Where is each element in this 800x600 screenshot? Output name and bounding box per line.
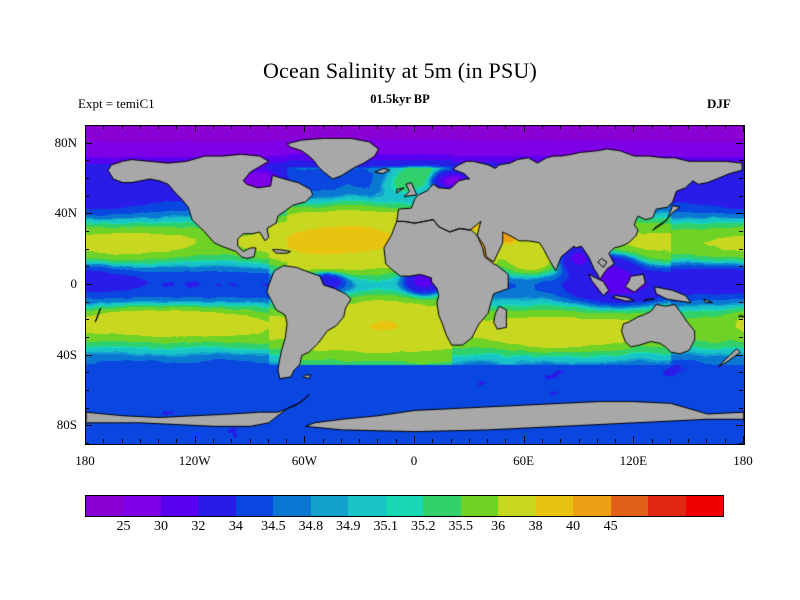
colorbar: [85, 495, 724, 517]
x-axis-minor-tick: [268, 439, 269, 443]
x-axis-minor-tick: [725, 125, 726, 129]
x-axis-minor-tick: [158, 439, 159, 443]
y-axis-minor-tick: [739, 196, 743, 197]
x-axis-major-tick: [524, 125, 525, 132]
y-axis-minor-tick: [739, 337, 743, 338]
x-axis-major-tick: [743, 436, 744, 443]
colorbar-tick-label: 34: [229, 519, 243, 535]
x-axis-minor-tick: [158, 125, 159, 129]
y-axis-minor-tick: [85, 178, 89, 179]
x-axis-minor-tick: [103, 439, 104, 443]
x-axis-minor-tick: [505, 439, 506, 443]
colorbar-band: [573, 496, 610, 516]
x-axis-minor-tick: [341, 439, 342, 443]
x-axis-minor-tick: [377, 125, 378, 129]
y-axis-major-tick: [85, 284, 92, 285]
colorbar-band: [348, 496, 385, 516]
y-axis-major-tick: [85, 213, 92, 214]
x-axis-minor-tick: [505, 125, 506, 129]
x-axis-minor-tick: [706, 439, 707, 443]
x-axis-minor-tick: [231, 439, 232, 443]
y-axis-minor-tick: [85, 160, 89, 161]
x-axis-minor-tick: [323, 439, 324, 443]
x-axis-minor-tick: [560, 439, 561, 443]
y-axis-tick-label: 0: [33, 276, 77, 292]
x-axis-minor-tick: [560, 125, 561, 129]
season-label: DJF: [707, 96, 731, 112]
x-axis-minor-tick: [359, 439, 360, 443]
salinity-heatmap-canvas: [86, 126, 744, 444]
colorbar-tick-label: 34.8: [299, 519, 324, 535]
x-axis-tick-label: 120E: [620, 453, 647, 469]
x-axis-minor-tick: [542, 439, 543, 443]
x-axis-minor-tick: [377, 439, 378, 443]
x-axis-minor-tick: [469, 439, 470, 443]
colorbar-band: [536, 496, 573, 516]
y-axis-minor-tick: [739, 408, 743, 409]
x-axis-tick-label: 120W: [179, 453, 211, 469]
x-axis-minor-tick: [341, 125, 342, 129]
x-axis-minor-tick: [469, 125, 470, 129]
x-axis-minor-tick: [688, 125, 689, 129]
y-axis-minor-tick: [85, 302, 89, 303]
colorbar-tick-label: 40: [566, 519, 580, 535]
x-axis-minor-tick: [122, 439, 123, 443]
y-axis-minor-tick: [739, 231, 743, 232]
x-axis-tick-label: 180: [733, 453, 753, 469]
x-axis-major-tick: [633, 125, 634, 132]
colorbar-band: [611, 496, 648, 516]
x-axis-minor-tick: [451, 439, 452, 443]
colorbar-tick-label: 36: [491, 519, 505, 535]
x-axis-tick-label: 60E: [513, 453, 534, 469]
x-axis-minor-tick: [542, 125, 543, 129]
x-axis-minor-tick: [122, 125, 123, 129]
x-axis-minor-tick: [176, 439, 177, 443]
y-axis-major-tick: [736, 284, 743, 285]
colorbar-band: [686, 496, 723, 516]
colorbar-band: [648, 496, 685, 516]
x-axis-minor-tick: [250, 439, 251, 443]
x-axis-minor-tick: [286, 439, 287, 443]
x-axis-minor-tick: [451, 125, 452, 129]
x-axis-minor-tick: [359, 125, 360, 129]
x-axis-major-tick: [85, 436, 86, 443]
x-axis-minor-tick: [670, 125, 671, 129]
y-axis-minor-tick: [85, 337, 89, 338]
colorbar-band: [273, 496, 310, 516]
colorbar-band: [498, 496, 535, 516]
colorbar-tick-label: 32: [191, 519, 205, 535]
y-axis-minor-tick: [739, 390, 743, 391]
y-axis-minor-tick: [739, 178, 743, 179]
x-axis-major-tick: [414, 436, 415, 443]
y-axis-minor-tick: [85, 231, 89, 232]
y-axis-major-tick: [736, 355, 743, 356]
x-axis-minor-tick: [176, 125, 177, 129]
colorbar-tick-labels: 2530323434.534.834.935.135.235.536384045: [0, 519, 800, 541]
x-axis-minor-tick: [213, 125, 214, 129]
x-axis-minor-tick: [103, 125, 104, 129]
colorbar-tick-label: 35.2: [411, 519, 436, 535]
colorbar-band: [423, 496, 460, 516]
y-axis-minor-tick: [739, 249, 743, 250]
x-axis-minor-tick: [286, 125, 287, 129]
experiment-label: Expt = temiC1: [78, 96, 155, 112]
x-axis-minor-tick: [250, 125, 251, 129]
x-axis-major-tick: [304, 125, 305, 132]
x-axis-tick-label: 0: [411, 453, 418, 469]
colorbar-band: [198, 496, 235, 516]
y-axis-minor-tick: [85, 390, 89, 391]
y-axis-major-tick: [736, 143, 743, 144]
x-axis-major-tick: [414, 125, 415, 132]
y-axis-minor-tick: [739, 372, 743, 373]
x-axis-minor-tick: [652, 439, 653, 443]
colorbar-band: [461, 496, 498, 516]
x-axis-minor-tick: [670, 439, 671, 443]
colorbar-tick-label: 35.1: [374, 519, 399, 535]
y-axis-minor-tick: [85, 196, 89, 197]
x-axis-minor-tick: [597, 125, 598, 129]
x-axis-minor-tick: [652, 125, 653, 129]
x-axis-major-tick: [304, 436, 305, 443]
x-axis-minor-tick: [213, 439, 214, 443]
x-axis-major-tick: [524, 436, 525, 443]
colorbar-tick-label: 45: [604, 519, 618, 535]
x-axis-major-tick: [633, 436, 634, 443]
y-axis-minor-tick: [739, 302, 743, 303]
y-axis-minor-tick: [85, 408, 89, 409]
colorbar-tick-label: 34.5: [261, 519, 286, 535]
y-axis-tick-label: 40N: [33, 205, 77, 221]
x-axis-minor-tick: [140, 125, 141, 129]
x-axis-minor-tick: [579, 439, 580, 443]
x-axis-major-tick: [195, 436, 196, 443]
y-axis-major-tick: [85, 143, 92, 144]
x-axis-minor-tick: [323, 125, 324, 129]
colorbar-band: [123, 496, 160, 516]
x-axis-minor-tick: [597, 439, 598, 443]
y-axis-major-tick: [736, 425, 743, 426]
x-axis-minor-tick: [615, 439, 616, 443]
y-axis-major-tick: [85, 355, 92, 356]
y-axis-tick-label: 40S: [33, 347, 77, 363]
x-axis-major-tick: [743, 125, 744, 132]
page-title: Ocean Salinity at 5m (in PSU): [0, 58, 800, 84]
colorbar-band: [311, 496, 348, 516]
y-axis-minor-tick: [85, 319, 89, 320]
y-axis-minor-tick: [85, 443, 89, 444]
y-axis-minor-tick: [85, 372, 89, 373]
y-axis-minor-tick: [739, 266, 743, 267]
x-axis-minor-tick: [432, 439, 433, 443]
x-axis-minor-tick: [432, 125, 433, 129]
y-axis-major-tick: [736, 213, 743, 214]
x-axis-minor-tick: [725, 439, 726, 443]
colorbar-tick-label: 34.9: [336, 519, 361, 535]
y-axis-minor-tick: [85, 249, 89, 250]
x-axis-minor-tick: [231, 125, 232, 129]
x-axis-minor-tick: [615, 125, 616, 129]
colorbar-tick-label: 35.5: [448, 519, 473, 535]
x-axis-major-tick: [85, 125, 86, 132]
y-axis-minor-tick: [739, 319, 743, 320]
x-axis-minor-tick: [706, 125, 707, 129]
x-axis-minor-tick: [396, 439, 397, 443]
x-axis-minor-tick: [268, 125, 269, 129]
colorbar-tick-label: 25: [116, 519, 130, 535]
x-axis-minor-tick: [688, 439, 689, 443]
x-axis-major-tick: [195, 125, 196, 132]
y-axis-tick-label: 80S: [33, 417, 77, 433]
y-axis-minor-tick: [85, 266, 89, 267]
y-axis-minor-tick: [739, 443, 743, 444]
y-axis-major-tick: [85, 425, 92, 426]
x-axis-minor-tick: [396, 125, 397, 129]
x-axis-minor-tick: [579, 125, 580, 129]
map-plot-area: [85, 125, 745, 445]
colorbar-tick-label: 30: [154, 519, 168, 535]
x-axis-tick-label: 60W: [292, 453, 317, 469]
colorbar-tick-label: 38: [529, 519, 543, 535]
x-axis-minor-tick: [487, 125, 488, 129]
colorbar-band: [161, 496, 198, 516]
x-axis-tick-label: 180: [75, 453, 95, 469]
y-axis-tick-label: 80N: [33, 135, 77, 151]
colorbar-band: [236, 496, 273, 516]
x-axis-minor-tick: [487, 439, 488, 443]
colorbar-band: [386, 496, 423, 516]
x-axis-minor-tick: [140, 439, 141, 443]
y-axis-minor-tick: [739, 160, 743, 161]
colorbar-band: [86, 496, 123, 516]
